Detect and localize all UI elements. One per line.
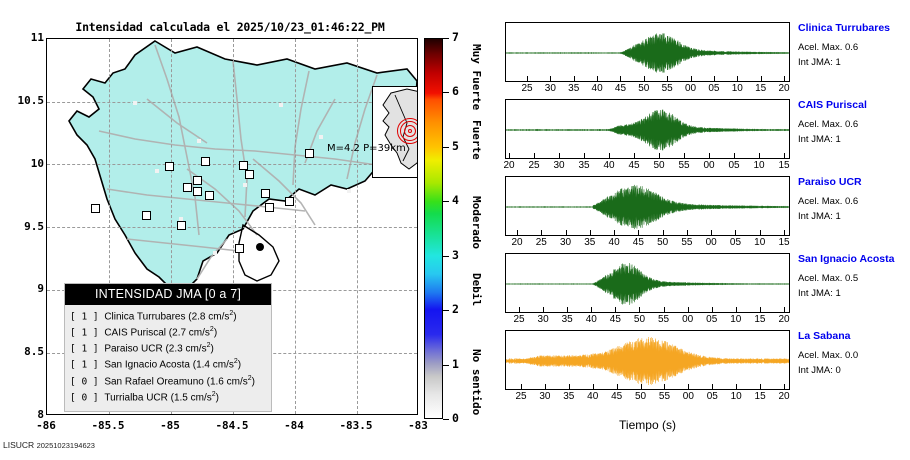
colorbar-gradient: [424, 38, 443, 419]
map-gridline: [47, 227, 417, 228]
waveform-station-name[interactable]: Paraiso UCR: [798, 176, 910, 188]
waveform-time-ticks: 202530354045505500051015: [505, 159, 790, 175]
station-marker[interactable]: [285, 197, 294, 206]
waveform-tick: [737, 76, 738, 82]
waveform-tick: [521, 384, 522, 390]
colorbar-category: Debil: [470, 273, 483, 337]
waveform-plot[interactable]: [505, 22, 790, 82]
waveform-time-ticks: 253035404550550005101520: [505, 313, 790, 329]
colorbar-tick: [443, 147, 449, 148]
station-marker[interactable]: [239, 161, 248, 170]
colorbar-tick-label: 6: [452, 84, 459, 98]
waveform-panel: 202530354045505500051015Paraiso UCRAcel.…: [505, 176, 910, 236]
legend-station-name: CAIS Puriscal: [104, 327, 168, 338]
colorbar-tick-label: 3: [452, 248, 459, 262]
epicenter-ring: [397, 118, 418, 144]
waveform-tick: [634, 153, 635, 159]
legend-accel-close: ): [233, 311, 236, 322]
footer-code: 20251023194623: [37, 441, 95, 450]
waveform-tick: [517, 230, 518, 236]
colorbar-category: Moderado: [470, 196, 483, 260]
legend-station-name: San Rafael Oreamuno: [104, 376, 206, 387]
waveform-tick: [667, 76, 668, 82]
legend-row: [ 1 ] CAIS Puriscal (2.7 cm/s2): [70, 325, 266, 341]
regional-inset-map[interactable]: [372, 86, 418, 178]
time-axis-title: Tiempo (s): [505, 418, 790, 432]
waveform-tick-label: 20: [769, 391, 799, 402]
waveform-tick: [684, 153, 685, 159]
map-gridline: [47, 164, 417, 165]
intensity-colorbar: 76543210 Muy FuerteFuerteModeradoDebilNo…: [424, 38, 494, 419]
waveform-station-info: Clinica TurrubaresAcel. Max. 0.6Int JMA:…: [798, 22, 910, 70]
city-dot: [279, 103, 283, 107]
map-latitude-tick: 11: [2, 31, 44, 44]
waveform-tick: [712, 307, 713, 313]
waveform-station-name[interactable]: Clinica Turrubares: [798, 22, 910, 34]
waveform-plot[interactable]: [505, 253, 790, 313]
map-longitude-tick: -86: [16, 419, 76, 432]
waveform-tick: [734, 153, 735, 159]
waveform-plot[interactable]: [505, 330, 790, 390]
waveform-tick: [591, 307, 592, 313]
waveform-tick: [597, 76, 598, 82]
waveform-tick: [641, 384, 642, 390]
colorbar-tick-label: 1: [452, 357, 459, 371]
intensity-map[interactable]: INTENSIDAD JMA [0 a 7] [ 1 ] Clinica Tur…: [46, 38, 418, 415]
legend-row: [ 1 ] Clinica Turrubares (2.8 cm/s2): [70, 309, 266, 325]
legend-station-name: Paraiso UCR: [104, 344, 165, 355]
waveform-tick: [545, 384, 546, 390]
waveform-tick: [534, 153, 535, 159]
waveform-tick: [569, 384, 570, 390]
legend-intensity-value: [ 1 ]: [70, 311, 104, 322]
waveform-tick: [659, 153, 660, 159]
station-marker[interactable]: [235, 244, 244, 253]
colorbar-category: Muy Fuerte: [470, 44, 483, 108]
footer-org: LISUCR: [3, 440, 34, 450]
city-dot: [291, 225, 295, 229]
colorbar-tick-label: 7: [452, 30, 459, 44]
waveform-tick: [687, 230, 688, 236]
waveform-tick-label: 15: [769, 160, 799, 171]
waveform-tick: [614, 230, 615, 236]
city-dot: [319, 135, 323, 139]
city-dot: [197, 139, 201, 143]
map-longitude-tick: -83.5: [326, 419, 386, 432]
waveform-tick: [559, 153, 560, 159]
waveform-tick: [735, 230, 736, 236]
waveform-tick: [711, 230, 712, 236]
map-latitude-tick: 8.5: [2, 345, 44, 358]
waveform-station-info: Paraiso UCRAcel. Max. 0.6Int JMA: 1: [798, 176, 910, 224]
waveform-station-info: La SabanaAcel. Max. 0.0Int JMA: 0: [798, 330, 910, 378]
waveform-accel-max: Acel. Max. 0.0: [798, 349, 910, 364]
waveform-int-jma: Int JMA: 1: [798, 210, 910, 225]
legend-accel-value: (1.5 cm/s: [171, 392, 212, 403]
waveform-time-ticks: 253035404550550005101520: [505, 390, 790, 406]
colorbar-tick: [443, 256, 449, 257]
waveform-tick: [664, 307, 665, 313]
waveform-tick: [691, 76, 692, 82]
waveform-tick: [566, 230, 567, 236]
waveform-int-jma: Int JMA: 1: [798, 287, 910, 302]
waveform-trace: [506, 254, 790, 313]
waveform-tick: [527, 76, 528, 82]
waveform-trace: [506, 331, 790, 390]
waveform-tick: [784, 384, 785, 390]
legend-row: [ 0 ] Turrialba UCR (1.5 cm/s2): [70, 390, 266, 406]
station-marker[interactable]: [183, 183, 192, 192]
intensity-legend: INTENSIDAD JMA [0 a 7] [ 1 ] Clinica Tur…: [64, 283, 272, 412]
waveform-time-ticks: 253035404550550005101520: [505, 82, 790, 98]
waveform-panel: 253035404550550005101520La SabanaAcel. M…: [505, 330, 910, 390]
map-latitude-tick: 9: [2, 282, 44, 295]
waveform-plot[interactable]: [505, 176, 790, 236]
waveform-accel-max: Acel. Max. 0.6: [798, 195, 910, 210]
map-longitude-tick: -83: [388, 419, 448, 432]
waveform-tick: [550, 76, 551, 82]
station-marker[interactable]: [91, 204, 100, 213]
waveform-station-info: San Ignacio AcostaAcel. Max. 0.5Int JMA:…: [798, 253, 910, 301]
waveform-tick: [584, 153, 585, 159]
waveform-accel-max: Acel. Max. 0.6: [798, 118, 910, 133]
station-marker[interactable]: [193, 187, 202, 196]
waveform-tick: [760, 307, 761, 313]
station-marker[interactable]: [205, 191, 214, 200]
map-longitude-tick: -84.5: [202, 419, 262, 432]
waveform-int-jma: Int JMA: 1: [798, 56, 910, 71]
waveform-tick: [609, 153, 610, 159]
waveform-tick: [664, 384, 665, 390]
waveform-tick: [736, 384, 737, 390]
waveform-tick: [574, 76, 575, 82]
waveform-trace: [506, 100, 790, 159]
legend-row: [ 1 ] San Ignacio Acosta (1.4 cm/s2): [70, 357, 266, 373]
colorbar-tick-label: 5: [452, 139, 459, 153]
map-longitude-tick: -85: [140, 419, 200, 432]
waveform-tick: [712, 384, 713, 390]
station-marker[interactable]: [245, 170, 254, 179]
waveform-tick: [688, 384, 689, 390]
station-marker[interactable]: [265, 203, 274, 212]
legend-intensity-value: [ 1 ]: [70, 327, 104, 338]
waveform-tick: [714, 76, 715, 82]
waveform-tick: [590, 230, 591, 236]
map-latitude-tick: 10: [2, 157, 44, 170]
waveform-int-jma: Int JMA: 1: [798, 133, 910, 148]
map-gridline: [47, 102, 417, 103]
waveform-tick-label: 20: [769, 314, 799, 325]
waveform-time-ticks: 202530354045505500051015: [505, 236, 790, 252]
waveform-tick: [639, 307, 640, 313]
waveform-tick: [593, 384, 594, 390]
legend-accel-close: ): [216, 392, 219, 403]
footer-watermark: LISUCR 20251023194623: [3, 440, 95, 450]
legend-intensity-value: [ 1 ]: [70, 360, 104, 371]
waveform-tick: [615, 307, 616, 313]
waveform-tick: [509, 153, 510, 159]
map-longitude-tick: -85.5: [78, 419, 138, 432]
page-title: Intensidad calculada el 2025/10/23_01:46…: [40, 20, 420, 34]
legend-intensity-value: [ 1 ]: [70, 344, 104, 355]
waveform-tick: [784, 230, 785, 236]
colorbar-tick: [443, 201, 449, 202]
legend-station-name: Turrialba UCR: [104, 392, 170, 403]
waveform-tick-label: 20: [769, 83, 799, 94]
legend-row: [ 1 ] Paraiso UCR (2.3 cm/s2): [70, 341, 266, 357]
legend-row: [ 0 ] San Rafael Oreamuno (1.6 cm/s2): [70, 374, 266, 390]
colorbar-tick-label: 2: [452, 302, 459, 316]
legend-accel-value: (2.7 cm/s: [169, 327, 210, 338]
waveform-int-jma: Int JMA: 0: [798, 364, 910, 379]
legend-title: INTENSIDAD JMA [0 a 7]: [65, 284, 271, 305]
station-marker[interactable]: [142, 211, 151, 220]
waveform-tick: [736, 307, 737, 313]
legend-station-name: San Ignacio Acosta: [104, 360, 192, 371]
waveform-tick: [760, 384, 761, 390]
station-marker[interactable]: [201, 157, 210, 166]
colorbar-tick: [443, 365, 449, 366]
colorbar-tick: [443, 419, 449, 420]
waveform-station-name[interactable]: CAIS Puriscal: [798, 99, 910, 111]
waveform-tick: [644, 76, 645, 82]
legend-intensity-value: [ 0 ]: [70, 376, 104, 387]
legend-accel-value: (2.8 cm/s: [188, 311, 229, 322]
waveform-tick: [617, 384, 618, 390]
waveform-station-name[interactable]: La Sabana: [798, 330, 910, 342]
station-marker[interactable]: [261, 189, 270, 198]
map-longitude-axis: -86-85.5-85-84.5-84-83.5-83: [0, 419, 460, 439]
legend-rows: [ 1 ] Clinica Turrubares (2.8 cm/s2)[ 1 …: [65, 305, 271, 411]
waveform-tick-label: 15: [769, 237, 799, 248]
waveform-tick: [620, 76, 621, 82]
legend-accel-value: (1.4 cm/s: [193, 360, 234, 371]
magnitude-depth-label: M=4.2 P=39km: [327, 143, 406, 154]
waveform-panel: 253035404550550005101520Clinica Turrubar…: [505, 22, 910, 82]
legend-intensity-value: [ 0 ]: [70, 392, 104, 403]
station-marker[interactable]: [177, 221, 186, 230]
waveform-accel-max: Acel. Max. 0.5: [798, 272, 910, 287]
waveform-tick: [709, 153, 710, 159]
colorbar-tick: [443, 310, 449, 311]
waveform-tick: [519, 307, 520, 313]
legend-accel-close: ): [252, 376, 255, 387]
waveform-station-name[interactable]: San Ignacio Acosta: [798, 253, 910, 265]
waveform-tick: [760, 230, 761, 236]
waveform-tick: [638, 230, 639, 236]
waveform-tick: [784, 76, 785, 82]
city-dot: [347, 189, 351, 193]
waveform-panel: 202530354045505500051015CAIS PuriscalAce…: [505, 99, 910, 159]
legend-station-name: Clinica Turrubares: [104, 311, 188, 322]
waveform-tick: [688, 307, 689, 313]
waveform-plot[interactable]: [505, 99, 790, 159]
legend-accel-value: (1.6 cm/s: [207, 376, 248, 387]
map-longitude-tick: -84: [264, 419, 324, 432]
waveform-panel: 253035404550550005101520San Ignacio Acos…: [505, 253, 910, 313]
map-latitude-tick: 10.5: [2, 94, 44, 107]
colorbar-tick-label: 4: [452, 193, 459, 207]
legend-accel-close: ): [211, 344, 214, 355]
waveform-tick: [663, 230, 664, 236]
colorbar-tick-label: 0: [452, 411, 459, 425]
waveform-tick: [567, 307, 568, 313]
waveform-tick: [784, 307, 785, 313]
waveform-station-info: CAIS PuriscalAcel. Max. 0.6Int JMA: 1: [798, 99, 910, 147]
city-dot: [155, 169, 159, 173]
station-marker[interactable]: [305, 149, 314, 158]
colorbar-tick: [443, 38, 449, 39]
waveform-tick: [784, 153, 785, 159]
colorbar-tick: [443, 92, 449, 93]
waveform-tick: [541, 230, 542, 236]
legend-accel-close: ): [214, 327, 217, 338]
city-dot: [243, 183, 247, 187]
waveform-accel-max: Acel. Max. 0.6: [798, 41, 910, 56]
station-marker[interactable]: [193, 176, 202, 185]
waveform-tick: [543, 307, 544, 313]
city-dot: [133, 101, 137, 105]
colorbar-category: No sentido: [470, 349, 483, 413]
city-dot: [213, 251, 217, 255]
legend-accel-close: ): [238, 360, 241, 371]
waveform-tick: [761, 76, 762, 82]
colorbar-category: Fuerte: [470, 120, 483, 184]
map-latitude-axis: 1110.5109.598.58: [0, 0, 44, 460]
station-marker[interactable]: [165, 162, 174, 171]
waveform-trace: [506, 23, 790, 82]
waveform-trace: [506, 177, 790, 236]
waveform-tick: [759, 153, 760, 159]
legend-accel-value: (2.3 cm/s: [165, 344, 206, 355]
map-latitude-tick: 9.5: [2, 220, 44, 233]
seismic-intensity-report: Intensidad calculada el 2025/10/23_01:46…: [0, 0, 910, 460]
